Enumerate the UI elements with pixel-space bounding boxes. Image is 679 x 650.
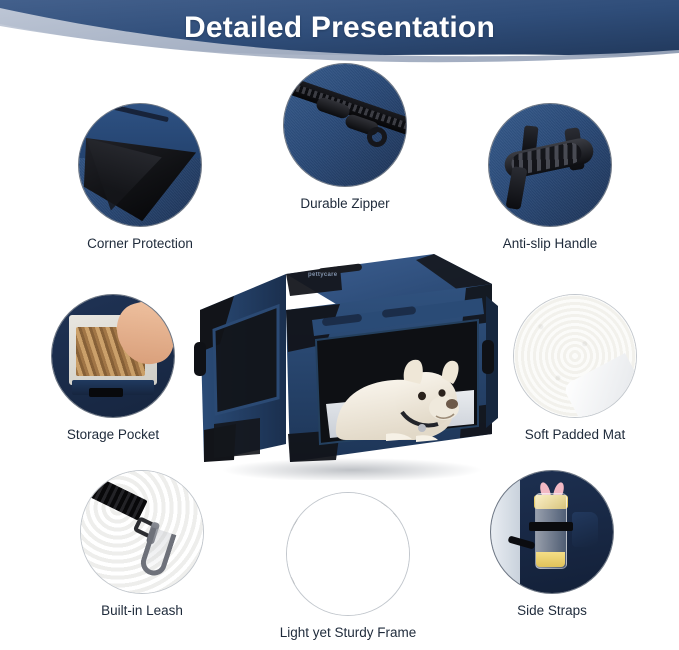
feature-soft-padded-mat[interactable]: Soft Padded Mat bbox=[495, 294, 655, 442]
fleece-mat-icon bbox=[513, 294, 637, 418]
feature-durable-zipper[interactable]: Durable Zipper bbox=[265, 63, 425, 211]
feature-storage-pocket[interactable]: Storage Pocket bbox=[33, 294, 193, 442]
feature-caption: Anti-slip Handle bbox=[470, 236, 630, 251]
feature-built-in-leash[interactable]: Built-in Leash bbox=[62, 470, 222, 618]
leash-hook-icon bbox=[80, 470, 204, 594]
zipper-icon bbox=[283, 63, 407, 187]
handle-icon bbox=[488, 103, 612, 227]
page-title: Detailed Presentation bbox=[0, 11, 679, 45]
feature-side-straps[interactable]: Side Straps bbox=[472, 470, 632, 618]
feature-caption: Durable Zipper bbox=[265, 196, 425, 211]
feature-anti-slip-handle[interactable]: Anti-slip Handle bbox=[470, 103, 630, 251]
brand-logo: pettycare bbox=[308, 272, 337, 278]
feature-caption: Storage Pocket bbox=[33, 427, 193, 442]
dog-crate-illustration bbox=[190, 248, 502, 480]
feature-corner-protection[interactable]: Corner Protection bbox=[60, 103, 220, 251]
wireframe-icon bbox=[286, 492, 410, 616]
pocket-icon bbox=[51, 294, 175, 418]
feature-caption: Built-in Leash bbox=[62, 603, 222, 618]
header-banner: Detailed Presentation bbox=[0, 0, 679, 72]
hero-product-image: pettycare bbox=[190, 248, 502, 480]
feature-caption: Corner Protection bbox=[60, 236, 220, 251]
feature-sturdy-frame[interactable]: Light yet Sturdy Frame bbox=[268, 492, 428, 640]
feature-caption: Soft Padded Mat bbox=[495, 427, 655, 442]
bottle-strap-icon bbox=[490, 470, 614, 594]
feature-caption: Light yet Sturdy Frame bbox=[268, 625, 428, 640]
feature-caption: Side Straps bbox=[472, 603, 632, 618]
corner-patch-icon bbox=[78, 103, 202, 227]
